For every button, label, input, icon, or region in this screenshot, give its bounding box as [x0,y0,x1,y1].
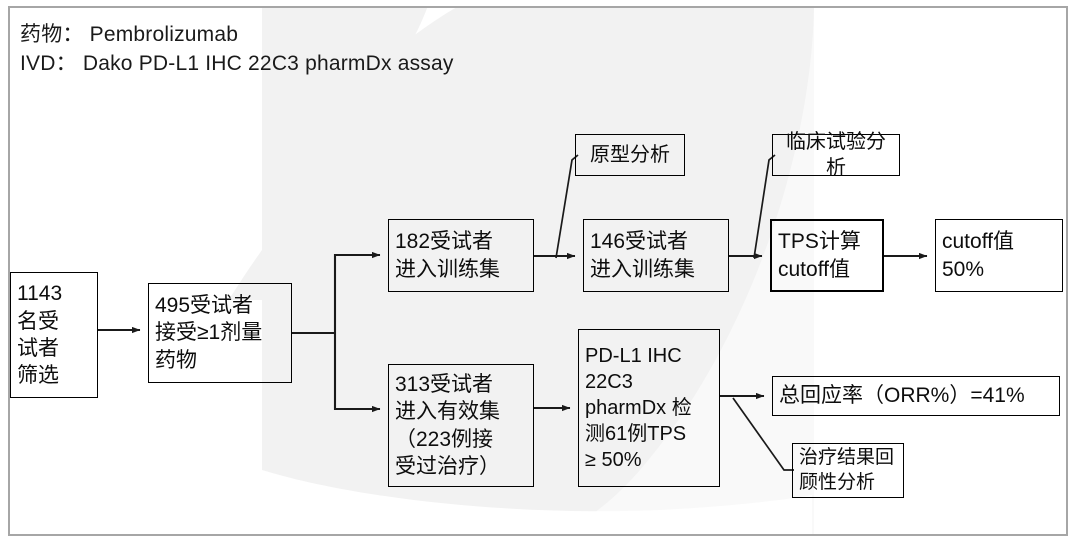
header-ivd-line: IVD： Dako PD-L1 IHC 22C3 pharmDx assay [20,47,454,77]
arrow-dosed-split-up [335,255,380,333]
node-pdl1-assay[interactable]: PD-L1 IHC 22C3 pharmDx 检 测61例TPS ≥ 50% [578,329,720,487]
node-dosed[interactable]: 495受试者 接受≥1剂量 药物 [148,283,292,383]
node-train-182-label: 182受试者 进入训练集 [389,228,533,283]
node-pdl1-assay-label: PD-L1 IHC 22C3 pharmDx 检 测61例TPS ≥ 50% [579,343,719,473]
node-orr-result-label: 总回应率（ORR%）=41% [773,382,1059,409]
note-clinical-trial-analysis-label: 临床试验分析 [773,129,899,181]
node-cutoff-value[interactable]: cutoff值 50% [935,219,1063,292]
node-screened-label: 1143 名受 试者 筛选 [11,280,97,389]
node-tps-calculation-label: TPS计算 cutoff值 [772,228,882,283]
note-clinical-trial-analysis[interactable]: 临床试验分析 [772,134,900,176]
node-efficacy-313-label: 313受试者 进入有效集 （223例接 受过治疗） [389,371,533,480]
flow-connectors [0,0,1077,543]
note-retrospective-analysis-label: 治疗结果回 顾性分析 [793,446,903,495]
node-dosed-label: 495受试者 接受≥1剂量 药物 [149,292,291,374]
node-train-182[interactable]: 182受试者 进入训练集 [388,219,534,292]
node-train-146[interactable]: 146受试者 进入训练集 [583,219,729,292]
node-screened[interactable]: 1143 名受 试者 筛选 [10,272,98,398]
header-drug-line: 药物： Pembrolizumab [20,18,238,48]
node-cutoff-value-label: cutoff值 50% [936,228,1062,283]
note-prototype-analysis[interactable]: 原型分析 [575,134,685,176]
note-prototype-analysis-label: 原型分析 [576,142,684,168]
note-retrospective-analysis[interactable]: 治疗结果回 顾性分析 [792,443,904,498]
node-orr-result[interactable]: 总回应率（ORR%）=41% [772,376,1060,416]
node-tps-calculation[interactable]: TPS计算 cutoff值 [770,219,884,292]
node-train-146-label: 146受试者 进入训练集 [584,228,728,283]
node-efficacy-313[interactable]: 313受试者 进入有效集 （223例接 受过治疗） [388,364,534,487]
arrow-dosed-split-down [335,333,380,409]
slide-canvas: 药物： Pembrolizumab IVD： Dako PD-L1 IHC 22… [0,0,1077,543]
